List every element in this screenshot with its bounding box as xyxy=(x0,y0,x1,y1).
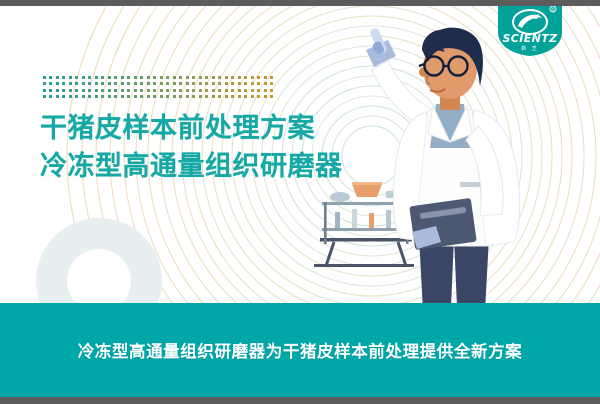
dot-grid-cell xyxy=(192,82,195,85)
dot-grid-cell xyxy=(43,89,46,92)
dot-grid-cell xyxy=(147,95,150,98)
dot-grid-cell xyxy=(82,76,85,79)
dot-grid-cell xyxy=(218,89,221,92)
dot-grid-cell xyxy=(140,76,143,79)
poster-root: 干猪皮样本前处理方案 冷冻型高通量组织研磨器 xyxy=(0,0,600,404)
dot-grid-cell xyxy=(153,76,156,79)
dot-grid-cell xyxy=(251,95,254,98)
dot-grid-cell xyxy=(173,95,176,98)
dot-grid-cell xyxy=(257,76,260,79)
dot-grid-cell xyxy=(43,82,46,85)
dot-grid-cell xyxy=(127,76,130,79)
dot-grid-cell xyxy=(179,76,182,79)
dot-grid-cell xyxy=(114,95,117,98)
dot-grid-cell xyxy=(153,82,156,85)
dot-grid-cell xyxy=(127,95,130,98)
dot-grid-cell xyxy=(218,95,221,98)
dot-grid-cell xyxy=(160,82,163,85)
dot-grid-cell xyxy=(179,95,182,98)
dot-grid-cell xyxy=(173,76,176,79)
dot-grid-cell xyxy=(225,95,228,98)
dot-grid-cell xyxy=(212,95,215,98)
dot-grid-cell xyxy=(212,76,215,79)
dot-grid-cell xyxy=(166,89,169,92)
dot-grid-cell xyxy=(88,95,91,98)
dot-grid-cell xyxy=(264,89,267,92)
page-title: 干猪皮样本前处理方案 冷冻型高通量组织研磨器 xyxy=(40,110,343,186)
artboard: 干猪皮样本前处理方案 冷冻型高通量组织研磨器 xyxy=(0,6,600,397)
dot-grid-cell xyxy=(186,95,189,98)
dot-grid-cell xyxy=(75,89,78,92)
dot-grid-cell xyxy=(192,95,195,98)
dot-grid-cell xyxy=(257,95,260,98)
dot-grid-cell xyxy=(212,82,215,85)
logo-registered-mark: ® xyxy=(551,7,555,12)
dot-grid-cell xyxy=(179,82,182,85)
bottom-banner: 冷冻型高通量组织研磨器为干猪皮样本前处理提供全新方案 xyxy=(0,303,600,397)
dot-grid-cell xyxy=(244,76,247,79)
page-title-line-1: 干猪皮样本前处理方案 xyxy=(40,110,343,148)
dot-grid-cell xyxy=(257,82,260,85)
dot-grid-cell xyxy=(160,89,163,92)
dot-grid-cell xyxy=(264,95,267,98)
dot-grid-cell xyxy=(56,89,59,92)
dot-grid-cell xyxy=(95,89,98,92)
dot-grid-cell xyxy=(95,82,98,85)
dot-grid-cell xyxy=(225,82,228,85)
dot-grid-cell xyxy=(199,89,202,92)
dot-grid-cell xyxy=(101,89,104,92)
dot-grid-cell xyxy=(270,95,273,98)
dot-grid-cell xyxy=(160,76,163,79)
dot-grid-cell xyxy=(69,82,72,85)
page-title-line-2: 冷冻型高通量组织研磨器 xyxy=(40,148,343,186)
dot-grid-cell xyxy=(127,82,130,85)
dot-grid-cell xyxy=(205,89,208,92)
dot-grid-cell xyxy=(101,76,104,79)
dot-grid-cell xyxy=(82,89,85,92)
scientz-logo[interactable]: ® SCIENTZ 新 芝 xyxy=(496,2,564,56)
dot-grid-cell xyxy=(101,82,104,85)
dot-grid-cell xyxy=(114,82,117,85)
dot-grid-cell xyxy=(160,95,163,98)
dot-grid-cell xyxy=(186,76,189,79)
dot-grid-cell xyxy=(173,89,176,92)
dot-grid-cell xyxy=(49,76,52,79)
dot-grid-cell xyxy=(192,89,195,92)
dot-grid-cell xyxy=(114,76,117,79)
dot-grid-cell xyxy=(134,89,137,92)
dot-grid-cell xyxy=(140,89,143,92)
dot-grid-cell xyxy=(147,89,150,92)
dot-grid-cell xyxy=(166,82,169,85)
logo-sub-wordmark: 新 芝 xyxy=(521,45,539,52)
dot-grid-cell xyxy=(166,95,169,98)
dot-grid-cell xyxy=(205,76,208,79)
dot-grid-cell xyxy=(264,76,267,79)
dot-grid-cell xyxy=(95,95,98,98)
dot-grid-cell xyxy=(62,82,65,85)
dot-grid-cell xyxy=(114,89,117,92)
dot-grid-cell xyxy=(238,95,241,98)
dot-grid-cell xyxy=(251,89,254,92)
dot-grid-cell xyxy=(49,89,52,92)
dot-grid-cell xyxy=(231,82,234,85)
dot-grid-cell xyxy=(270,89,273,92)
dot-grid-cell xyxy=(82,95,85,98)
dot-grid-cell xyxy=(127,89,130,92)
dot-grid-cell xyxy=(270,76,273,79)
dot-grid-cell xyxy=(108,82,111,85)
dot-grid-cell xyxy=(69,89,72,92)
dot-grid-cell xyxy=(173,82,176,85)
dot-grid-cell xyxy=(75,82,78,85)
window-chrome-bottom xyxy=(0,397,600,404)
dot-grid-cell xyxy=(75,95,78,98)
dot-grid-cell xyxy=(108,95,111,98)
dot-grid-cell xyxy=(218,82,221,85)
dot-grid-cell xyxy=(166,76,169,79)
dot-grid-cell xyxy=(199,95,202,98)
dot-grid-cell xyxy=(121,82,124,85)
banner-text: 冷冻型高通量组织研磨器为干猪皮样本前处理提供全新方案 xyxy=(78,338,523,362)
dot-grid-cell xyxy=(212,89,215,92)
dot-grid-cell xyxy=(238,89,241,92)
dot-grid-cell xyxy=(199,76,202,79)
dot-grid-cell xyxy=(218,76,221,79)
dot-grid-cell xyxy=(244,82,247,85)
dot-grid-cell xyxy=(244,95,247,98)
dot-grid-cell xyxy=(134,95,137,98)
dot-grid-cell xyxy=(62,95,65,98)
dot-grid-cell xyxy=(101,95,104,98)
dot-grid-cell xyxy=(121,89,124,92)
dot-grid-cell xyxy=(264,82,267,85)
dot-grid-cell xyxy=(192,76,195,79)
dot-grid-cell xyxy=(69,95,72,98)
dot-grid-cell xyxy=(62,89,65,92)
dot-grid-cell xyxy=(82,82,85,85)
dot-grid-cell xyxy=(199,82,202,85)
dot-grid-cell xyxy=(56,82,59,85)
dot-grid-cell xyxy=(56,95,59,98)
dot-grid-cell xyxy=(147,82,150,85)
dot-grid-cell xyxy=(88,76,91,79)
dot-grid-cell xyxy=(95,76,98,79)
dot-grid-cell xyxy=(231,76,234,79)
dot-grid-cell xyxy=(186,82,189,85)
dot-grid-cell xyxy=(225,76,228,79)
scientist-head xyxy=(419,28,483,99)
dot-grid-cell xyxy=(56,76,59,79)
dot-grid-cell xyxy=(179,89,182,92)
dot-grid-cell xyxy=(186,89,189,92)
dot-grid-cell xyxy=(140,95,143,98)
dot-grid-cell xyxy=(153,95,156,98)
dot-grid-cell xyxy=(225,89,228,92)
dot-grid-cell xyxy=(43,76,46,79)
dot-grid-cell xyxy=(62,76,65,79)
dot-grid-cell xyxy=(49,95,52,98)
dot-grid-cell xyxy=(88,89,91,92)
dot-grid-cell xyxy=(147,76,150,79)
dot-grid-cell xyxy=(231,89,234,92)
dot-grid-cell xyxy=(153,89,156,92)
dot-grid-cell xyxy=(238,76,241,79)
dot-grid-cell xyxy=(75,76,78,79)
dot-grid-cell xyxy=(108,89,111,92)
dot-grid-cell xyxy=(134,76,137,79)
dot-grid-cell xyxy=(270,82,273,85)
dot-grid-cell xyxy=(257,89,260,92)
dot-grid-cell xyxy=(49,82,52,85)
dot-grid-cell xyxy=(43,95,46,98)
dot-grid-cell xyxy=(121,95,124,98)
dot-grid-cell xyxy=(88,82,91,85)
dot-grid-cell xyxy=(205,82,208,85)
dot-grid-cell xyxy=(69,76,72,79)
logo-wordmark: SCIENTZ xyxy=(502,32,558,45)
dot-grid-cell xyxy=(244,89,247,92)
window-chrome-top xyxy=(0,0,600,6)
dot-grid-cell xyxy=(251,76,254,79)
dot-grid-cell xyxy=(134,82,137,85)
dot-grid-cell xyxy=(238,82,241,85)
dot-grid-cell xyxy=(108,76,111,79)
dot-grid-cell xyxy=(140,82,143,85)
dot-grid-cell xyxy=(231,95,234,98)
dot-grid-cell xyxy=(205,95,208,98)
dot-grid-cell xyxy=(121,76,124,79)
dot-grid-cell xyxy=(251,82,254,85)
dot-grid-decoration xyxy=(41,74,275,100)
